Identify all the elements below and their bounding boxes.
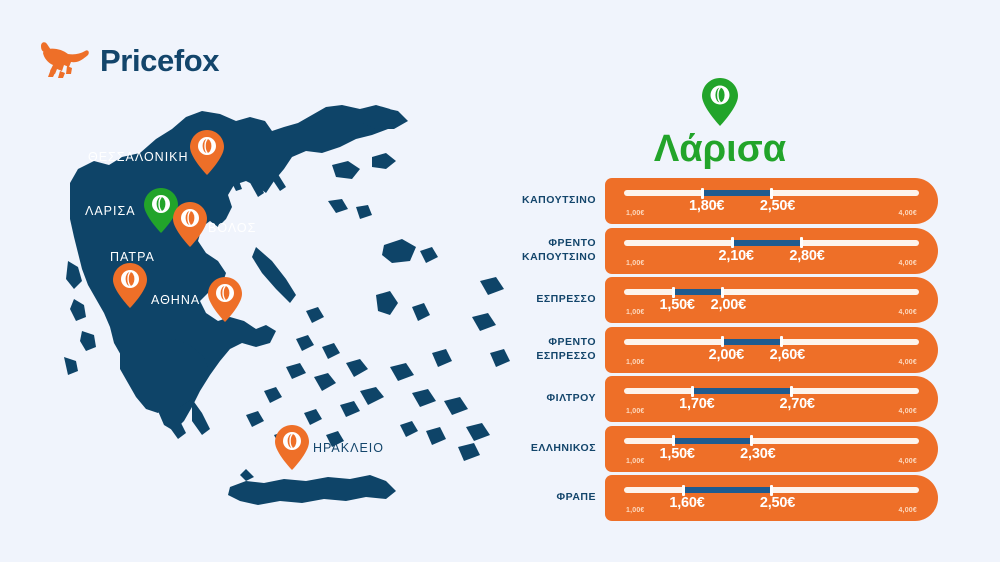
price-row-label-line: ΦΡΑΠΕ [556,491,596,504]
price-slider-card[interactable]: 1,00€4,00€1,50€2,00€ [605,277,938,323]
price-min-value: 1,50€ [660,297,695,313]
map-city-label: ΑΘΗΝΑ [151,293,200,307]
map-city-label: ΠΑΤΡΑ [110,250,155,264]
price-range-bar [703,190,772,196]
price-row: ΦΙΛΤΡΟΥ1,00€4,00€1,70€2,70€ [505,376,975,422]
map-city-label: ΗΡΑΚΛΕΙΟ [313,441,384,455]
price-range-track[interactable] [624,339,919,345]
range-handle-min[interactable] [731,237,734,248]
axis-min-label: 1,00€ [626,458,645,465]
coffee-bean-pin-icon [208,277,242,322]
price-min-value: 1,50€ [660,446,695,462]
price-min-value: 1,60€ [669,495,704,511]
city-header: Λάρισα [590,78,850,168]
price-range-bar [693,388,791,394]
axis-min-label: 1,00€ [626,260,645,267]
track-line [624,438,919,444]
price-row: ΕΣΠΡΕΣΣΟ1,00€4,00€1,50€2,00€ [505,277,975,323]
range-handle-max[interactable] [721,287,724,298]
coffee-bean-pin-icon [275,425,309,470]
price-row-label: ΦΡΕΝΤΟΕΣΠΡΕΣΣΟ [505,327,596,373]
price-max-value: 2,60€ [770,347,805,363]
city-price-panel: Λάρισα ΚΑΠΟΥΤΣΙΝΟ1,00€4,00€1,80€2,50€ΦΡΕ… [505,78,975,538]
price-rows: ΚΑΠΟΥΤΣΙΝΟ1,00€4,00€1,80€2,50€ΦΡΕΝΤΟΚΑΠΟ… [505,178,975,525]
price-slider-card[interactable]: 1,00€4,00€1,80€2,50€ [605,178,938,224]
price-row-label-line: ΕΛΛΗΝΙΚΟΣ [531,442,596,455]
price-slider-card[interactable]: 1,00€4,00€1,50€2,30€ [605,426,938,472]
price-range-bar [673,438,752,444]
range-handle-max[interactable] [770,188,773,199]
coffee-bean-pin-icon [173,202,207,247]
axis-min-label: 1,00€ [626,309,645,316]
price-min-value: 1,80€ [689,198,724,214]
range-handle-max[interactable] [770,485,773,496]
price-range-track[interactable] [624,190,919,196]
axis-max-label: 4,00€ [898,309,917,316]
range-handle-min[interactable] [691,386,694,397]
price-min-value: 2,00€ [709,347,744,363]
price-row-label-line: ΦΡΕΝΤΟ [548,336,596,349]
price-slider-card[interactable]: 1,00€4,00€1,70€2,70€ [605,376,938,422]
map-pin-3[interactable] [173,202,207,247]
price-row: ΦΡΑΠΕ1,00€4,00€1,60€2,50€ [505,475,975,521]
range-handle-max[interactable] [800,237,803,248]
price-row-label: ΕΛΛΗΝΙΚΟΣ [505,426,596,472]
axis-max-label: 4,00€ [898,260,917,267]
price-max-value: 2,50€ [760,198,795,214]
map-pin-5[interactable] [208,277,242,322]
city-title: Λάρισα [590,130,850,168]
range-handle-min[interactable] [721,336,724,347]
price-max-value: 2,00€ [711,297,746,313]
map-pin-6[interactable] [275,425,309,470]
axis-max-label: 4,00€ [898,507,917,514]
coffee-bean-pin-icon [113,263,147,308]
price-range-bar [673,289,722,295]
price-row-label: ΕΣΠΡΕΣΣΟ [505,277,596,323]
price-range-track[interactable] [624,487,919,493]
price-row: ΚΑΠΟΥΤΣΙΝΟ1,00€4,00€1,80€2,50€ [505,178,975,224]
price-range-track[interactable] [624,438,919,444]
greece-map: ΘΕΣΣΑΛΟΝΙΚΗΛΑΡΙΣΑΒΟΛΟΣΠΑΤΡΑΑΘΗΝΑΗΡΑΚΛΕΙΟ [60,95,510,535]
brand-logo: Pricefox [38,36,219,84]
price-max-value: 2,70€ [780,396,815,412]
price-range-bar [722,339,781,345]
fox-icon [38,40,90,80]
infographic-root: Pricefox [0,0,1000,562]
price-row-label-line: ΦΙΛΤΡΟΥ [547,392,596,405]
price-range-track[interactable] [624,388,919,394]
axis-min-label: 1,00€ [626,408,645,415]
range-handle-min[interactable] [682,485,685,496]
axis-max-label: 4,00€ [898,359,917,366]
price-range-bar [732,240,801,246]
price-max-value: 2,30€ [740,446,775,462]
range-handle-min[interactable] [672,287,675,298]
price-slider-card[interactable]: 1,00€4,00€2,00€2,60€ [605,327,938,373]
coffee-bean-pin-icon [190,130,224,175]
map-city-label: ΛΑΡΙΣΑ [85,204,136,218]
price-min-value: 1,70€ [679,396,714,412]
price-row: ΕΛΛΗΝΙΚΟΣ1,00€4,00€1,50€2,30€ [505,426,975,472]
map-city-label: ΒΟΛΟΣ [208,221,256,235]
price-row-label-line: ΚΑΠΟΥΤΣΙΝΟ [522,251,596,264]
price-row-label-line: ΕΣΠΡΕΣΣΟ [536,350,596,363]
price-row-label-line: ΚΑΠΟΥΤΣΙΝΟ [522,194,596,207]
price-range-track[interactable] [624,289,919,295]
price-row: ΦΡΕΝΤΟΕΣΠΡΕΣΣΟ1,00€4,00€2,00€2,60€ [505,327,975,373]
price-row-label: ΚΑΠΟΥΤΣΙΝΟ [505,178,596,224]
price-range-track[interactable] [624,240,919,246]
range-handle-min[interactable] [701,188,704,199]
price-row-label-line: ΕΣΠΡΕΣΣΟ [536,293,596,306]
price-slider-card[interactable]: 1,00€4,00€1,60€2,50€ [605,475,938,521]
price-range-bar [683,487,772,493]
price-min-value: 2,10€ [719,248,754,264]
brand-wordmark: Pricefox [100,45,219,76]
price-max-value: 2,50€ [760,495,795,511]
axis-min-label: 1,00€ [626,210,645,217]
price-slider-card[interactable]: 1,00€4,00€2,10€2,80€ [605,228,938,274]
axis-max-label: 4,00€ [898,408,917,415]
coffee-bean-pin-icon [702,78,738,126]
map-city-label: ΘΕΣΣΑΛΟΝΙΚΗ [88,150,189,164]
range-handle-min[interactable] [672,435,675,446]
price-row-label-line: ΦΡΕΝΤΟ [548,237,596,250]
axis-max-label: 4,00€ [898,210,917,217]
range-handle-max[interactable] [790,386,793,397]
price-row-label: ΦΡΕΝΤΟΚΑΠΟΥΤΣΙΝΟ [505,228,596,274]
map-pin-4[interactable] [113,263,147,308]
price-row-label: ΦΙΛΤΡΟΥ [505,376,596,422]
axis-min-label: 1,00€ [626,507,645,514]
price-max-value: 2,80€ [789,248,824,264]
range-handle-max[interactable] [780,336,783,347]
price-row: ΦΡΕΝΤΟΚΑΠΟΥΤΣΙΝΟ1,00€4,00€2,10€2,80€ [505,228,975,274]
axis-min-label: 1,00€ [626,359,645,366]
range-handle-max[interactable] [750,435,753,446]
axis-max-label: 4,00€ [898,458,917,465]
price-row-label: ΦΡΑΠΕ [505,475,596,521]
track-line [624,289,919,295]
map-pin-1[interactable] [190,130,224,175]
